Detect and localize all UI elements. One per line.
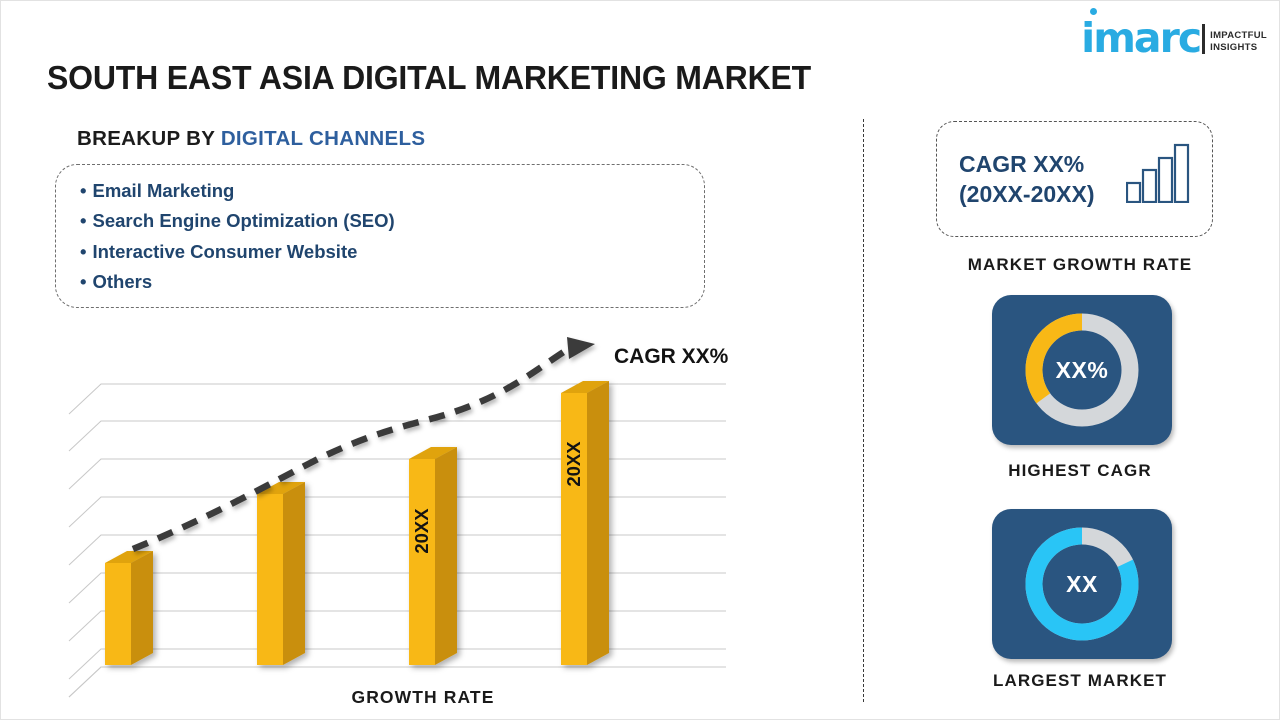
bar-chart-icon: [1126, 143, 1190, 208]
trend-arrow: [133, 337, 595, 549]
largest-market-value: XX: [1020, 522, 1144, 646]
segment-label: Email Marketing: [92, 180, 234, 201]
trend-arrow-line: [133, 346, 573, 549]
largest-market-label: LARGEST MARKET: [881, 671, 1279, 691]
growth-rate-bar-chart: 20XX 20XX CAGR XX% GROWTH RATE: [61, 331, 761, 720]
bar-2-side: [283, 482, 305, 665]
list-item: •Search Engine Optimization (SEO): [80, 206, 704, 236]
highest-cagr-label: HIGHEST CAGR: [881, 461, 1279, 481]
bullet-icon: •: [80, 210, 86, 231]
bar-1: [105, 551, 153, 665]
cagr-line-1: CAGR XX%: [959, 149, 1095, 179]
segment-list-box: •Email Marketing •Search Engine Optimiza…: [55, 164, 705, 308]
market-growth-rate-label: MARKET GROWTH RATE: [881, 255, 1279, 275]
trend-arrow-head: [567, 337, 595, 359]
bar-1-front: [105, 563, 131, 665]
highest-cagr-card: XX%: [992, 295, 1172, 445]
infographic-page: imarc IMPACTFUL INSIGHTS SOUTH EAST ASIA…: [0, 0, 1280, 720]
market-growth-rate-box: CAGR XX% (20XX-20XX): [936, 121, 1213, 237]
breakup-subtitle: BREAKUP BY DIGITAL CHANNELS: [77, 127, 425, 151]
list-item: •Others: [80, 267, 704, 297]
highest-cagr-donut: XX%: [1020, 308, 1144, 432]
segment-label: Interactive Consumer Website: [92, 241, 357, 262]
chart-cagr-annotation: CAGR XX%: [614, 345, 729, 368]
segment-label: Search Engine Optimization (SEO): [92, 210, 394, 231]
subtitle-accent: DIGITAL CHANNELS: [221, 127, 426, 150]
bar-4: [561, 381, 609, 665]
bar-2-front: [257, 494, 283, 665]
bar-3: [409, 447, 457, 665]
list-item: •Interactive Consumer Website: [80, 237, 704, 267]
bar-4-side: [587, 381, 609, 665]
subtitle-prefix: BREAKUP BY: [77, 127, 215, 150]
chart-svg: 20XX 20XX CAGR XX% GROWTH RATE: [61, 331, 761, 720]
list-item: •Email Marketing: [80, 176, 704, 206]
bar-2: [257, 482, 305, 665]
bar-4-front: [561, 393, 587, 665]
highest-cagr-value: XX%: [1020, 308, 1144, 432]
bullet-icon: •: [80, 241, 86, 262]
segment-label: Others: [92, 271, 152, 292]
right-panel: CAGR XX% (20XX-20XX) MARKET GROWTH RATE: [881, 1, 1279, 720]
cagr-text: CAGR XX% (20XX-20XX): [959, 149, 1095, 209]
bar-3-front: [409, 459, 435, 665]
bar-3-side: [435, 447, 457, 665]
largest-market-donut: XX: [1020, 522, 1144, 646]
bar-3-label: 20XX: [411, 508, 432, 554]
chart-gridlines: [69, 384, 726, 697]
largest-market-card: XX: [992, 509, 1172, 659]
bullet-icon: •: [80, 180, 86, 201]
bar-4-label: 20XX: [563, 441, 584, 487]
cagr-line-2: (20XX-20XX): [959, 179, 1095, 209]
vertical-divider: [863, 119, 864, 702]
bar-1-side: [131, 551, 153, 665]
page-title: SOUTH EAST ASIA DIGITAL MARKETING MARKET: [47, 59, 811, 97]
chart-xlabel: GROWTH RATE: [351, 687, 494, 707]
bullet-icon: •: [80, 271, 86, 292]
